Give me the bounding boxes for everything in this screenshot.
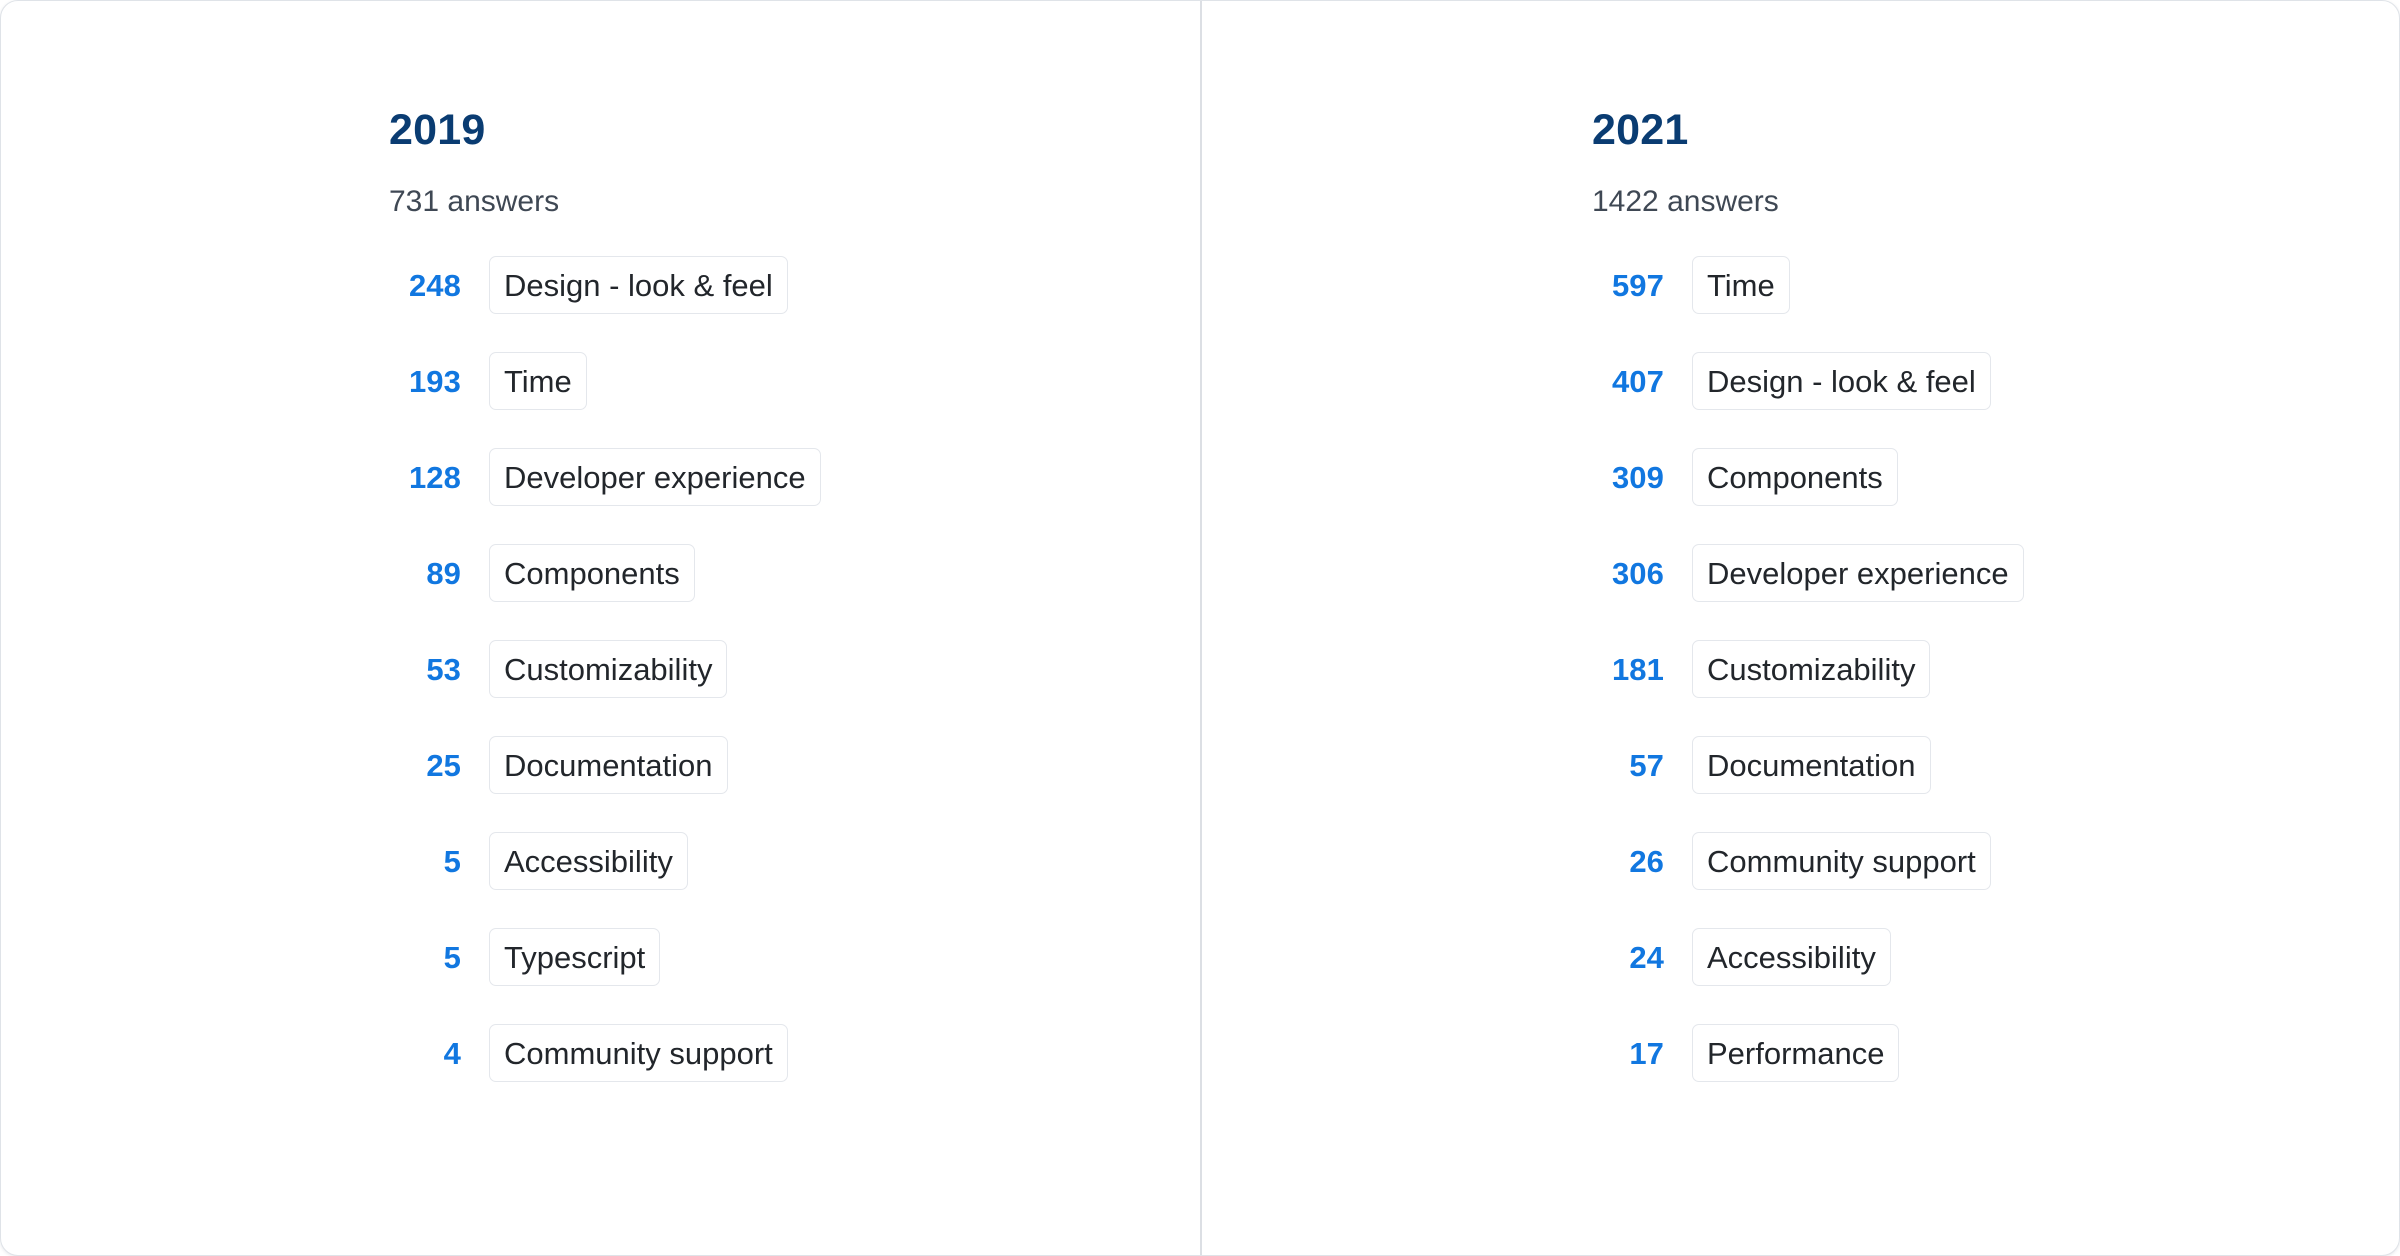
result-count: 597 (1592, 270, 1664, 301)
result-row[interactable]: 4 Community support (389, 1024, 1200, 1082)
result-row[interactable]: 309 Components (1592, 448, 2399, 506)
result-label-chip[interactable]: Accessibility (1692, 928, 1891, 986)
result-row[interactable]: 17 Performance (1592, 1024, 2399, 1082)
result-count: 306 (1592, 558, 1664, 589)
result-label-chip[interactable]: Documentation (1692, 736, 1931, 794)
result-label-chip[interactable]: Performance (1692, 1024, 1899, 1082)
result-row[interactable]: 181 Customizability (1592, 640, 2399, 698)
result-label-chip[interactable]: Time (489, 352, 587, 410)
result-row[interactable]: 407 Design - look & feel (1592, 352, 2399, 410)
result-count: 24 (1592, 942, 1664, 973)
panel-answers-count: 1422 answers (1592, 187, 2399, 217)
result-count: 248 (389, 270, 461, 301)
result-count: 193 (389, 366, 461, 397)
result-row[interactable]: 25 Documentation (389, 736, 1200, 794)
result-label-chip[interactable]: Documentation (489, 736, 728, 794)
result-label-chip[interactable]: Design - look & feel (489, 256, 788, 314)
result-label-chip[interactable]: Components (489, 544, 695, 602)
result-label-chip[interactable]: Components (1692, 448, 1898, 506)
result-label-chip[interactable]: Typescript (489, 928, 660, 986)
result-label-chip[interactable]: Community support (489, 1024, 788, 1082)
result-list-2021: 597 Time 407 Design - look & feel 309 Co… (1592, 256, 2399, 1082)
result-label-chip[interactable]: Customizability (1692, 640, 1930, 698)
panel-year-heading: 2021 (1592, 109, 2399, 152)
result-label-chip[interactable]: Developer experience (1692, 544, 2024, 602)
result-count: 53 (389, 654, 461, 685)
result-row[interactable]: 57 Documentation (1592, 736, 2399, 794)
result-count: 26 (1592, 846, 1664, 877)
result-list-2019: 248 Design - look & feel 193 Time 128 De… (389, 256, 1200, 1082)
result-row[interactable]: 597 Time (1592, 256, 2399, 314)
panel-year-heading: 2019 (389, 109, 1200, 152)
result-label-chip[interactable]: Design - look & feel (1692, 352, 1991, 410)
result-count: 17 (1592, 1038, 1664, 1069)
result-count: 407 (1592, 366, 1664, 397)
result-count: 4 (389, 1038, 461, 1069)
result-count: 5 (389, 942, 461, 973)
result-label-chip[interactable]: Time (1692, 256, 1790, 314)
result-row[interactable]: 26 Community support (1592, 832, 2399, 890)
result-row[interactable]: 5 Typescript (389, 928, 1200, 986)
result-row[interactable]: 5 Accessibility (389, 832, 1200, 890)
result-row[interactable]: 248 Design - look & feel (389, 256, 1200, 314)
result-count: 25 (389, 750, 461, 781)
result-row[interactable]: 89 Components (389, 544, 1200, 602)
result-row[interactable]: 24 Accessibility (1592, 928, 2399, 986)
result-count: 128 (389, 462, 461, 493)
result-row[interactable]: 193 Time (389, 352, 1200, 410)
panel-answers-count: 731 answers (389, 187, 1200, 217)
panel-2019: 2019 731 answers 248 Design - look & fee… (1, 1, 1200, 1255)
result-label-chip[interactable]: Customizability (489, 640, 727, 698)
result-row[interactable]: 53 Customizability (389, 640, 1200, 698)
result-count: 89 (389, 558, 461, 589)
result-count: 5 (389, 846, 461, 877)
comparison-card: 2019 731 answers 248 Design - look & fee… (0, 0, 2400, 1256)
result-count: 57 (1592, 750, 1664, 781)
result-row[interactable]: 306 Developer experience (1592, 544, 2399, 602)
result-row[interactable]: 128 Developer experience (389, 448, 1200, 506)
result-count: 309 (1592, 462, 1664, 493)
panel-2021: 2021 1422 answers 597 Time 407 Design - … (1200, 1, 2399, 1255)
result-label-chip[interactable]: Accessibility (489, 832, 688, 890)
result-label-chip[interactable]: Community support (1692, 832, 1991, 890)
result-count: 181 (1592, 654, 1664, 685)
result-label-chip[interactable]: Developer experience (489, 448, 821, 506)
